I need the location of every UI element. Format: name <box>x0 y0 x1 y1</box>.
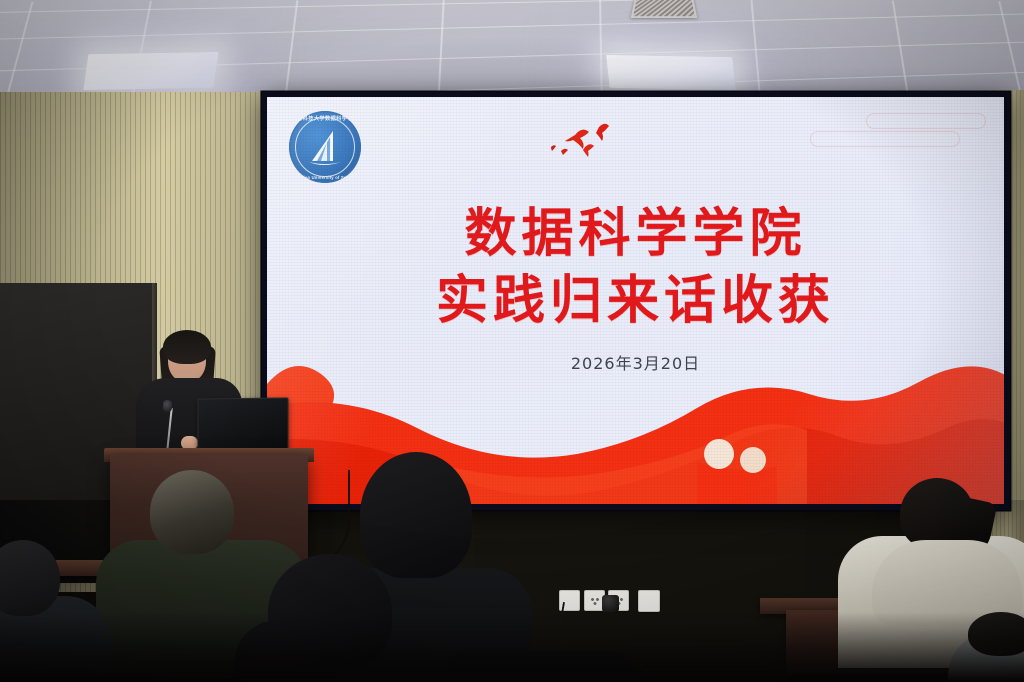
logo-text-chinese: 青岛科技大学数据科学学院 <box>289 115 361 122</box>
presenter-hair-top <box>163 330 211 364</box>
lecture-hall-scene: 青岛科技大学数据科学学院 Qingdao University of Scien… <box>0 0 1024 682</box>
projection-screen-frame: 青岛科技大学数据科学学院 Qingdao University of Scien… <box>262 92 1010 510</box>
audience-member-3-head <box>360 452 472 578</box>
laptop-screen[interactable] <box>197 397 288 452</box>
slide-title-line-1: 数据科学学院 <box>267 201 1004 268</box>
faint-cloud-outline-1 <box>866 113 986 129</box>
school-emblem-logo: 青岛科技大学数据科学学院 Qingdao University of Scien… <box>289 111 361 183</box>
foreground-shadow <box>0 612 1024 682</box>
blank-wall-plate <box>638 590 660 612</box>
faint-cloud-outline-2 <box>810 131 960 147</box>
sail-mountain-icon <box>303 127 347 171</box>
ceiling <box>0 0 1024 104</box>
logo-text-english: Qingdao University of Science <box>289 175 361 180</box>
slide-title-line-2: 实践归来话收获 <box>267 268 1004 335</box>
microphone-icon <box>163 400 172 412</box>
presentation-slide[interactable]: 青岛科技大学数据科学学院 Qingdao University of Scien… <box>267 97 1004 504</box>
audience-member-1-head <box>150 470 234 554</box>
flying-birds-icon <box>537 117 647 177</box>
